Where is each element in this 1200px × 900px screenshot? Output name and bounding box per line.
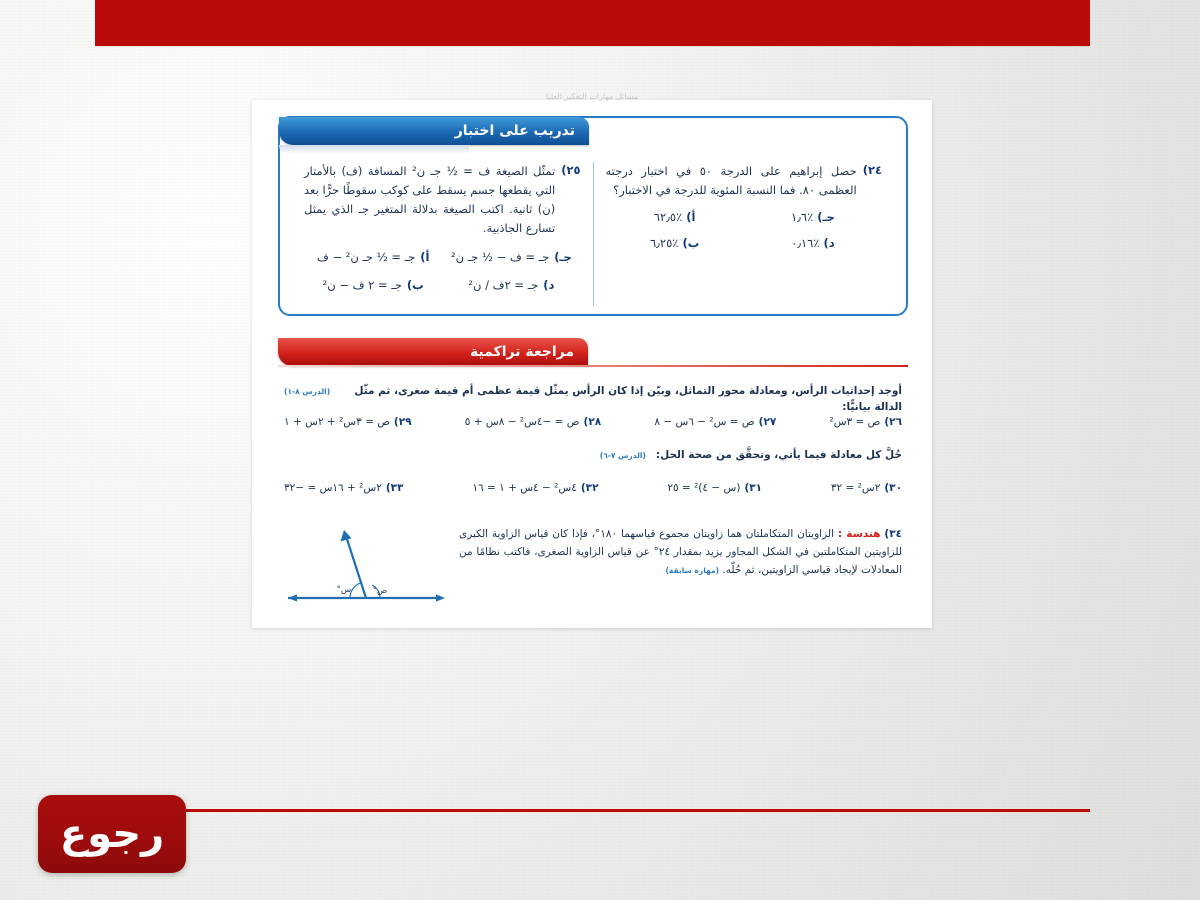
exercise-33-expression: ٢س² + ١٦س = −٣٢ [284,482,382,494]
choice-24-b-key: ب) [682,236,699,250]
choice-24-b[interactable]: ب) ٪٦٫٢٥ [606,236,744,250]
exercise-34-subject-tag: هندسة : [838,528,881,540]
choice-24-c[interactable]: جـ) ٪١٫٦ [744,210,882,224]
choice-25-d-value: جـ = ٢ف / ن² [468,278,538,292]
review-divider-rule [278,365,908,367]
exercise-32[interactable]: ٣٢) ٤س² − ٤س + ١ = ١٦ [472,482,598,494]
choice-24-a[interactable]: أ) ٪٦٢٫٥ [606,210,744,224]
exercise-26-expression: ص = ٣س² [830,416,881,428]
exercise-30-number: ٣٠) [884,482,902,494]
exercise-30[interactable]: ٣٠) ٢س² = ٣٢ [831,482,902,494]
choice-25-a[interactable]: أ) جـ = ½ جـ ن² − ف [304,250,442,264]
top-red-bar [95,0,1090,46]
question-24-text: حصل إبراهيم على الدرجة ٥٠ في اختبار درجت… [606,162,857,200]
choice-24-a-value: ٪٦٢٫٥ [654,210,682,224]
exercise-28-expression: ص = −٤س² − ٨س + ٥ [465,416,580,428]
choice-25-d[interactable]: د) جـ = ٢ف / ن² [442,278,580,292]
exercise-29[interactable]: ٢٩) ص = ٣س² + ٢س + ١ [284,416,412,428]
choice-24-d-value: ٪٠٫١٦ [791,236,819,250]
choice-25-c-value: جـ = ف − ½ جـ ن² [451,250,549,264]
choice-24-d-key: د) [824,236,835,250]
back-button[interactable]: رجوع [38,795,186,873]
choice-24-c-key: جـ) [817,210,834,224]
exercise-34-skill-ref: (مهارة سابقة) [666,566,720,575]
test-practice-banner: تدريب على اختبار [279,117,589,145]
angle-label-left: س° [337,585,352,595]
exercise-29-expression: ص = ٣س² + ٢س + ١ [284,416,390,428]
choice-24-b-value: ٪٦٫٢٥ [650,236,678,250]
question-24-number: ٢٤) [863,162,882,177]
test-practice-box: تدريب على اختبار ٢٤) حصل إبراهيم على الد… [278,116,908,316]
exercise-34-number: ٣٤) [884,528,902,540]
question-25: ٢٥) تمثّل الصيغة ف = ½ جـ ن² المسافة (ف)… [304,162,581,238]
supplementary-angles-figure: ص° س° [284,526,449,612]
review-instruction-2: حُلَّ كل معادلة فيما يأتي، وتحقَّق من صح… [284,448,902,464]
question-25-text: تمثّل الصيغة ف = ½ جـ ن² المسافة (ف) بال… [304,162,555,238]
choice-25-c[interactable]: جـ) جـ = ف − ½ جـ ن² [442,250,580,264]
angle-diagram-svg: ص° س° [284,526,449,612]
choice-25-b[interactable]: ب) جـ = ٢ ف − ن² [304,278,442,292]
exercise-31[interactable]: ٣١) (س − ٤)² = ٢٥ [667,482,762,494]
choice-24-a-key: أ) [686,210,695,224]
exercise-row-30-33: ٣٠) ٢س² = ٣٢ ٣١) (س − ٤)² = ٢٥ ٣٢) ٤س² −… [284,482,902,494]
exercise-34-text-wrap: ٣٤) هندسة : الزاويتان المتكاملتان هما زا… [459,526,902,612]
choice-25-c-key: جـ) [554,250,571,264]
exercise-34-block: ٣٤) هندسة : الزاويتان المتكاملتان هما زا… [284,526,902,612]
exercise-26-number: ٢٦) [884,416,902,428]
choice-24-c-value: ٪١٫٦ [791,210,813,224]
exercise-32-number: ٣٢) [581,482,599,494]
review-instruction-1-text: أوجد إحداثيات الرأس، ومعادلة محور التماث… [338,384,902,416]
choice-25-a-key: أ) [420,250,429,264]
question-25-number: ٢٥) [561,162,580,177]
exercise-32-expression: ٤س² − ٤س + ١ = ١٦ [472,482,577,494]
exercise-26[interactable]: ٢٦) ص = ٣س² [830,416,903,428]
review-instruction-1: أوجد إحداثيات الرأس، ومعادلة محور التماث… [284,384,902,416]
lesson-ref-1: (الدرس ٨-١) [284,386,330,397]
choice-25-d-key: د) [543,278,554,292]
cumulative-review-banner-label: مراجعة تراكمية [470,344,574,360]
exercise-29-number: ٢٩) [394,416,412,428]
cropped-header-text: مسائل مهارات التفكير العليا [272,92,912,106]
exercise-33[interactable]: ٣٣) ٢س² + ١٦س = −٣٢ [284,482,403,494]
exercise-27-expression: ص = س² − ٦س − ٨ [654,416,754,428]
choice-25-b-key: ب) [407,278,424,292]
exercise-28-number: ٢٨) [584,416,602,428]
test-practice-banner-label: تدريب على اختبار [455,123,575,139]
exercise-31-number: ٣١) [744,482,762,494]
textbook-page-sheet: مسائل مهارات التفكير العليا تدريب على اخ… [252,100,932,628]
question-24-column: ٢٤) حصل إبراهيم على الدرجة ٥٠ في اختبار … [593,162,895,306]
exercise-30-expression: ٢س² = ٣٢ [831,482,880,494]
cumulative-review-banner: مراجعة تراكمية [278,338,588,366]
question-24-choices: جـ) ٪١٫٦ أ) ٪٦٢٫٥ د) ٪٠٫١٦ ب) ٪٦٫٢٥ [606,210,883,250]
exercise-27[interactable]: ٢٧) ص = س² − ٦س − ٨ [654,416,776,428]
angle-label-right: ص° [373,586,388,596]
question-25-choices: جـ) جـ = ف − ½ جـ ن² أ) جـ = ½ جـ ن² − ف… [304,250,581,292]
choice-24-d[interactable]: د) ٪٠٫١٦ [744,236,882,250]
exercise-27-number: ٢٧) [759,416,777,428]
question-24: ٢٤) حصل إبراهيم على الدرجة ٥٠ في اختبار … [606,162,883,200]
banner-tail-blue [279,145,469,154]
bottom-red-rule [178,809,1090,812]
cumulative-review-box: مراجعة تراكمية أوجد إحداثيات الرأس، ومعا… [278,338,908,610]
practice-columns: ٢٤) حصل إبراهيم على الدرجة ٥٠ في اختبار … [292,162,894,306]
exercise-28[interactable]: ٢٨) ص = −٤س² − ٨س + ٥ [465,416,601,428]
question-25-column: ٢٥) تمثّل الصيغة ف = ½ جـ ن² المسافة (ف)… [292,162,593,306]
exercise-33-number: ٣٣) [386,482,404,494]
choice-25-a-value: جـ = ½ جـ ن² − ف [317,250,415,264]
review-instruction-2-text: حُلَّ كل معادلة فيما يأتي، وتحقَّق من صح… [656,448,902,464]
exercise-31-expression: (س − ٤)² = ٢٥ [667,482,740,494]
lesson-ref-2: (الدرس ٧-٦) [600,450,646,461]
exercise-row-26-29: ٢٦) ص = ٣س² ٢٧) ص = س² − ٦س − ٨ ٢٨) ص = … [284,416,902,428]
choice-25-b-value: جـ = ٢ ف − ن² [323,278,402,292]
